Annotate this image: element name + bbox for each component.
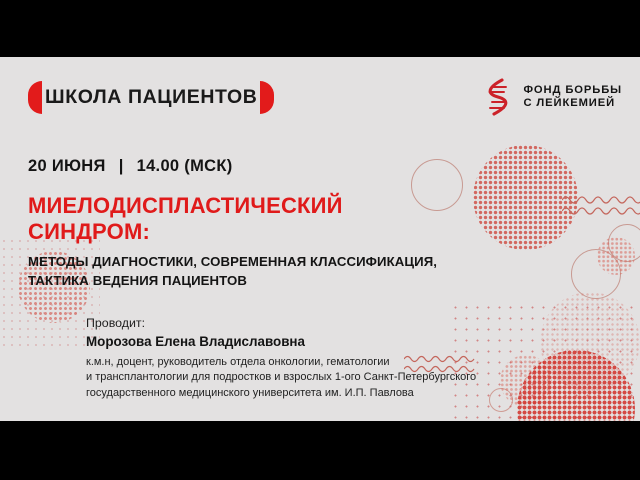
letterbox-bar-bottom bbox=[0, 421, 640, 480]
halftone-circle-big bbox=[473, 145, 578, 250]
letterbox-bar-top bbox=[0, 0, 640, 57]
school-of-patients-label: ШКОЛА ПАЦИЕНТОВ bbox=[45, 88, 257, 108]
halftone-circle-bottom-dense bbox=[517, 350, 635, 421]
event-datetime: 20 ИЮНЯ | 14.00 (МСК) bbox=[28, 157, 233, 176]
zigzag-wave-top-right bbox=[562, 194, 640, 220]
halftone-circle-bottom-pale bbox=[540, 292, 640, 392]
presenter-bio-line-1: к.м.н, доцент, руководитель отдела онкол… bbox=[86, 355, 476, 371]
presenter-bio-line-2: и трансплантологии для подростков и взро… bbox=[86, 370, 476, 386]
presenter-bio-line-3: государственного медицинского университе… bbox=[86, 386, 476, 402]
event-subtitle-line-1: МЕТОДЫ ДИАГНОСТИКИ, СОВРЕМЕННАЯ КЛАССИФИ… bbox=[28, 252, 437, 271]
leukemia-foundation-logo: ФОНД БОРЬБЫ С ЛЕЙКЕМИЕЙ bbox=[481, 77, 622, 117]
bracket-right-icon bbox=[260, 81, 274, 114]
presenter-lead-label: Проводит: bbox=[86, 315, 476, 331]
presenter-name: Морозова Елена Владиславовна bbox=[86, 332, 476, 351]
datetime-separator: | bbox=[119, 157, 124, 176]
dna-helix-icon bbox=[481, 77, 515, 117]
event-title-line-2: СИНДРОМ: bbox=[28, 219, 343, 245]
halftone-circle-right-small bbox=[597, 237, 635, 275]
foundation-line-1: ФОНД БОРЬБЫ bbox=[523, 84, 622, 97]
leukemia-foundation-wordmark: ФОНД БОРЬБЫ С ЛЕЙКЕМИЕЙ bbox=[523, 84, 622, 110]
event-date: 20 ИЮНЯ bbox=[28, 157, 106, 176]
outline-circle-small-lower bbox=[489, 388, 513, 412]
video-frame: ШКОЛА ПАЦИЕНТОВ ФОНД bbox=[0, 0, 640, 480]
event-subtitle-line-2: ТАКТИКА ВЕДЕНИЯ ПАЦИЕНТОВ bbox=[28, 271, 437, 290]
event-subtitle: МЕТОДЫ ДИАГНОСТИКИ, СОВРЕМЕННАЯ КЛАССИФИ… bbox=[28, 252, 437, 290]
outline-circle-right-mid bbox=[571, 249, 621, 299]
bracket-left-icon bbox=[28, 81, 42, 114]
slide-canvas: ШКОЛА ПАЦИЕНТОВ ФОНД bbox=[0, 57, 640, 421]
outline-circle-right-top bbox=[608, 224, 640, 262]
event-title-line-1: МИЕЛОДИСПЛАСТИЧЕСКИЙ bbox=[28, 193, 343, 219]
school-of-patients-logo: ШКОЛА ПАЦИЕНТОВ bbox=[28, 81, 274, 114]
event-title: МИЕЛОДИСПЛАСТИЧЕСКИЙ СИНДРОМ: bbox=[28, 193, 343, 244]
dot-grid-bottom-right bbox=[450, 302, 640, 421]
outline-circle-upper-left bbox=[411, 159, 463, 211]
foundation-line-2: С ЛЕЙКЕМИЕЙ bbox=[523, 97, 622, 110]
event-time: 14.00 (МСК) bbox=[137, 157, 233, 176]
halftone-circle-bottom-small bbox=[500, 355, 552, 407]
presenter-block: Проводит: Морозова Елена Владиславовна к… bbox=[86, 315, 476, 401]
